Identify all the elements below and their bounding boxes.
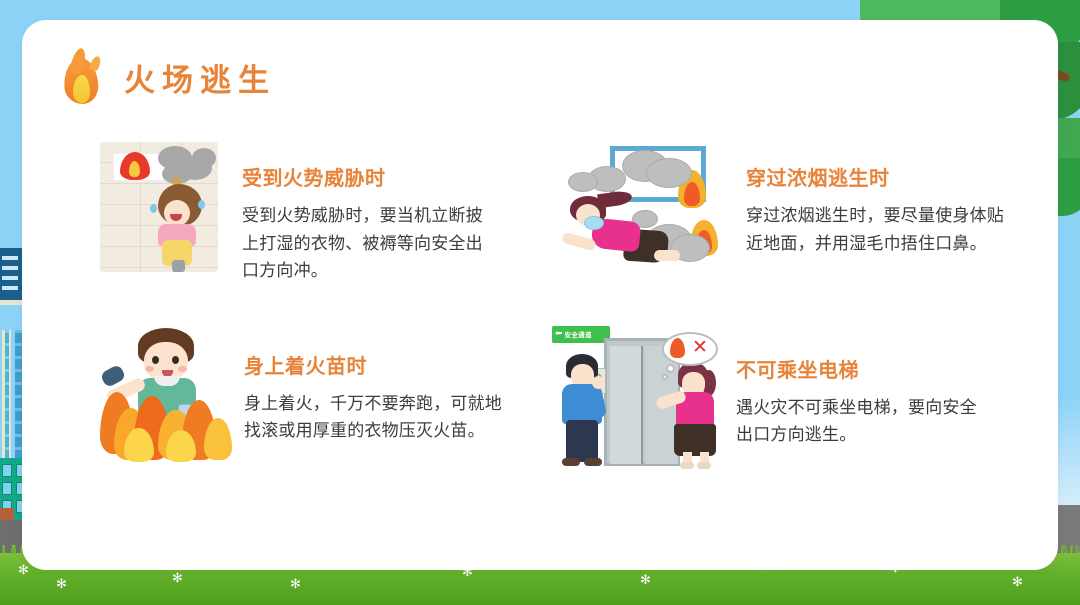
tips-row: 受到火势威胁时 受到火势威胁时，要当机立断披上打湿的衣物、被褥等向安全出口方向冲… [82,142,1012,286]
tip-thumbnail [100,142,218,272]
tip-thumbnail [550,142,720,270]
flower-icon: ✻ [18,564,29,577]
tip-body: 穿过浓烟逃生时，要尽量使身体贴近地面，并用湿毛巾捂住口鼻。 [746,203,1004,258]
tip-thumbnail: ⬅ 安全通道 [550,324,720,472]
tip-text-block: 身上着火苗时 身上着火，千万不要奔跑，可就地找滚或用厚重的衣物压灭火苗。 [240,324,514,446]
tip-text-block: 受到火势威胁时 受到火势威胁时，要当机立断披上打湿的衣物、被褥等向安全出口方向冲… [218,142,492,286]
flower-icon: ✻ [640,574,651,587]
tip-item-no-elevator: ⬅ 安全通道 [522,324,982,472]
smoke-window-crawling-girl-illustration [550,142,720,270]
brick-wall-fire-window-child-illustration [100,142,218,272]
tip-heading: 身上着火苗时 [244,350,514,379]
flower-icon: ✻ [290,578,301,591]
tip-text-block: 穿过浓烟逃生时 穿过浓烟逃生时，要尽量使身体贴近地面，并用湿毛巾捂住口鼻。 [720,142,1004,258]
left-arrow-icon: ⬅ [555,330,563,339]
tip-item-fire-threat: 受到火势威胁时 受到火势威胁时，要当机立断披上打湿的衣物、被褥等向安全出口方向冲… [82,142,522,286]
tip-thumbnail [100,324,240,464]
tip-item-smoke-escape: 穿过浓烟逃生时 穿过浓烟逃生时，要尽量使身体贴近地面，并用湿毛巾捂住口鼻。 [522,142,982,286]
tip-body: 遇火灾不可乘坐电梯，要向安全出口方向逃生。 [736,395,992,450]
tips-row: 身上着火苗时 身上着火，千万不要奔跑，可就地找滚或用厚重的衣物压灭火苗。 ⬅ 安… [82,324,1012,472]
forbidden-x-icon: ✕ [692,338,708,357]
tips-grid: 受到火势威胁时 受到火势威胁时，要当机立断披上打湿的衣物、被褥等向安全出口方向冲… [82,142,1012,472]
flower-icon: ✻ [172,572,183,585]
boy-on-fire-illustration [100,324,240,464]
tip-body: 受到火势威胁时，要当机立断披上打湿的衣物、被褥等向安全出口方向冲。 [242,203,492,286]
exit-sign-label: 安全通道 [565,329,592,339]
flower-icon: ✻ [56,578,67,591]
elevator-two-children-illustration: ⬅ 安全通道 [550,324,720,472]
flame-icon [60,48,104,106]
page-title: 火场逃生 [124,55,276,100]
flower-icon: ✻ [1012,576,1023,589]
emergency-exit-sign: ⬅ 安全通道 [552,326,610,343]
tip-item-clothes-on-fire: 身上着火苗时 身上着火，千万不要奔跑，可就地找滚或用厚重的衣物压灭火苗。 [82,324,522,472]
tip-heading: 不可乘坐电梯 [736,354,992,383]
tip-heading: 受到火势威胁时 [242,162,492,191]
content-card: 火场逃生 [22,20,1058,570]
tip-text-block: 不可乘坐电梯 遇火灾不可乘坐电梯，要向安全出口方向逃生。 [720,324,992,450]
tip-body: 身上着火，千万不要奔跑，可就地找滚或用厚重的衣物压灭火苗。 [244,391,514,446]
page-header: 火场逃生 [60,48,276,106]
tip-heading: 穿过浓烟逃生时 [746,162,1004,191]
